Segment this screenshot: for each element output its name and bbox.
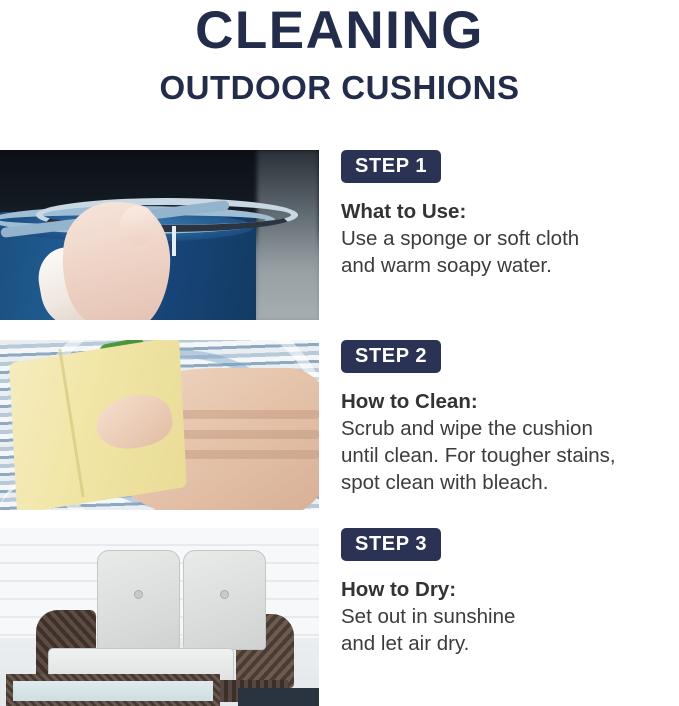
step-1-content: STEP 1 What to Use: Use a sponge or soft…: [341, 150, 679, 320]
step-1-badge: STEP 1: [341, 150, 441, 183]
knuckle-crease-1: [180, 410, 319, 419]
step-3-lead: How to Dry:: [341, 578, 456, 601]
step-row-3: STEP 3 How to Dry: Set out in sunshine a…: [0, 528, 679, 706]
step-1-line-1: Use a sponge or soft cloth: [341, 227, 579, 250]
dark-floor-shadow: [238, 688, 319, 706]
cushion-button-right: [220, 590, 229, 599]
glass-top-side-table: [6, 674, 220, 706]
step-2-badge: STEP 2: [341, 340, 441, 373]
back-cushion-right: [183, 550, 266, 650]
step-row-1: STEP 1 What to Use: Use a sponge or soft…: [0, 150, 679, 320]
step-2-text: How to Clean: Scrub and wipe the cushion…: [341, 388, 679, 496]
step-2-content: STEP 2 How to Clean: Scrub and wipe the …: [341, 340, 679, 510]
step-1-line-2: and warm soapy water.: [341, 254, 552, 277]
page-title: CLEANING: [0, 2, 679, 60]
knuckle-crease-3: [180, 450, 319, 459]
step-3-photo: [0, 528, 319, 706]
step-row-2: STEP 2 How to Clean: Scrub and wipe the …: [0, 340, 679, 510]
cushion-button-left: [134, 590, 143, 599]
step-3-line-2: and let air dry.: [341, 632, 469, 655]
step-2-lead: How to Clean:: [341, 390, 478, 413]
infographic-page: CLEANING OUTDOOR CUSHIONS STEP 1 What to…: [0, 0, 679, 706]
step-2-line-3: spot clean with bleach.: [341, 471, 548, 494]
page-subtitle: OUTDOOR CUSHIONS: [0, 69, 679, 107]
step-3-line-1: Set out in sunshine: [341, 605, 515, 628]
step-1-text: What to Use: Use a sponge or soft cloth …: [341, 198, 679, 279]
step-3-text: How to Dry: Set out in sunshine and let …: [341, 576, 679, 657]
bucket-scene-wall: [257, 150, 319, 320]
step-1-photo: [0, 150, 319, 320]
back-cushion-left: [97, 550, 180, 650]
knuckle-crease-2: [180, 430, 319, 439]
step-2-line-1: Scrub and wipe the cushion: [341, 417, 593, 440]
step-3-badge: STEP 3: [341, 528, 441, 561]
step-2-photo: [0, 340, 319, 510]
step-1-lead: What to Use:: [341, 200, 466, 223]
bucket-spout: [172, 226, 176, 256]
step-2-line-2: until clean. For tougher stains,: [341, 444, 616, 467]
step-3-content: STEP 3 How to Dry: Set out in sunshine a…: [341, 528, 679, 706]
header: CLEANING OUTDOOR CUSHIONS: [0, 0, 679, 107]
